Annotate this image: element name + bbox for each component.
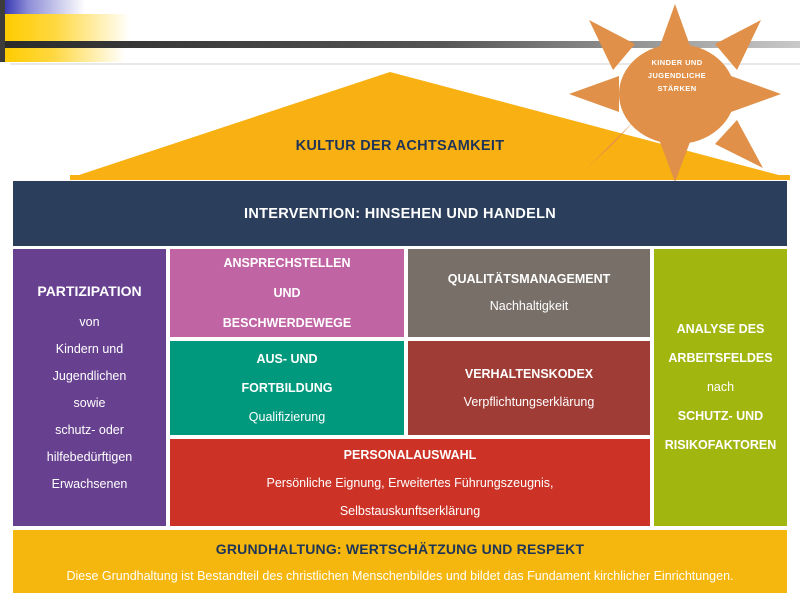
personalauswahl-box: PERSONALAUSWAHL Persönliche Eignung, Erw… <box>170 439 650 526</box>
qualitaetsmanagement-box: QUALITÄTSMANAGEMENT Nachhaltigkeit <box>408 249 650 337</box>
intervention-label: INTERVENTION: HINSEHEN UND HANDELN <box>19 206 781 222</box>
grundhaltung-heading: GRUNDHALTUNG: WERTSCHÄTZUNG UND RESPEKT <box>21 535 779 563</box>
qualitaetsmanagement-sub: Nachhaltigkeit <box>414 293 644 320</box>
ansprechstellen-line-3: BESCHWERDEWEGE <box>176 308 398 338</box>
ausbildung-line-1: AUS- UND <box>176 345 398 374</box>
partizipation-line-1: von <box>19 309 160 336</box>
analyse-line-4: SCHUTZ- UND <box>660 402 781 431</box>
verhaltenskodex-box: VERHALTENSKODEX Verpflichtungserklärung <box>408 341 650 435</box>
partizipation-line-6: hilfebedürftigen <box>19 444 160 471</box>
ansprechstellen-line-1: ANSPRECHSTELLEN <box>176 248 398 278</box>
partizipation-line-5: schutz- oder <box>19 417 160 444</box>
sun-label: KINDER UND JUGENDLICHE STÄRKEN <box>639 56 715 95</box>
personalauswahl-heading: PERSONALAUSWAHL <box>176 441 644 469</box>
sun-line-3: JUGENDLICHE <box>648 71 706 80</box>
roof-label: KULTUR DER ACHTSAMKEIT <box>180 138 620 154</box>
decor-yellow-gradient-strip-upper <box>5 14 130 41</box>
personalauswahl-line-1: Persönliche Eignung, Erweitertes Führung… <box>176 469 644 497</box>
partizipation-line-7: Erwachsenen <box>19 471 160 498</box>
analyse-line-3: nach <box>660 373 781 402</box>
analyse-line-1: ANALYSE DES <box>660 315 781 344</box>
sun-line-4: STÄRKEN <box>657 84 696 93</box>
personalauswahl-line-2: Selbstauskunftserklärung <box>176 497 644 525</box>
partizipation-heading: PARTIZIPATION <box>19 278 160 305</box>
verhaltenskodex-sub: Verpflichtungserklärung <box>414 388 644 416</box>
partizipation-line-3: Jugendlichen <box>19 363 160 390</box>
schutzkonzept-diagram: KULTUR DER ACHTSAMKEIT KINDER UND JUGEND… <box>0 0 800 605</box>
ansprechstellen-line-2: UND <box>176 278 398 308</box>
analyse-column: ANALYSE DES ARBEITSFELDES nach SCHUTZ- U… <box>654 249 787 526</box>
verhaltenskodex-heading: VERHALTENSKODEX <box>414 360 644 388</box>
partizipation-line-2: Kindern und <box>19 336 160 363</box>
partizipation-line-4: sowie <box>19 390 160 417</box>
ansprechstellen-box: ANSPRECHSTELLEN UND BESCHWERDEWEGE <box>170 249 404 337</box>
sun-line-1: KINDER <box>651 58 682 67</box>
grundhaltung-sub: Diese Grundhaltung ist Bestandteil des c… <box>21 563 779 589</box>
analyse-line-2: ARBEITSFELDES <box>660 344 781 373</box>
house-body: INTERVENTION: HINSEHEN UND HANDELN PARTI… <box>13 181 787 593</box>
ausbildung-line-2: FORTBILDUNG <box>176 374 398 403</box>
sun-icon: KINDER UND JUGENDLICHE STÄRKEN <box>565 2 785 182</box>
decor-blue-gradient-strip <box>5 0 85 14</box>
ausbildung-sub: Qualifizierung <box>176 403 398 432</box>
intervention-bar: INTERVENTION: HINSEHEN UND HANDELN <box>13 181 787 246</box>
qualitaetsmanagement-heading: QUALITÄTSMANAGEMENT <box>414 266 644 293</box>
aus-und-fortbildung-box: AUS- UND FORTBILDUNG Qualifizierung <box>170 341 404 435</box>
analyse-line-5: RISIKOFAKTOREN <box>660 431 781 460</box>
sun-line-2: UND <box>685 58 702 67</box>
grundhaltung-footer: GRUNDHALTUNG: WERTSCHÄTZUNG UND RESPEKT … <box>13 530 787 593</box>
partizipation-column: PARTIZIPATION von Kindern und Jugendlich… <box>13 249 166 526</box>
